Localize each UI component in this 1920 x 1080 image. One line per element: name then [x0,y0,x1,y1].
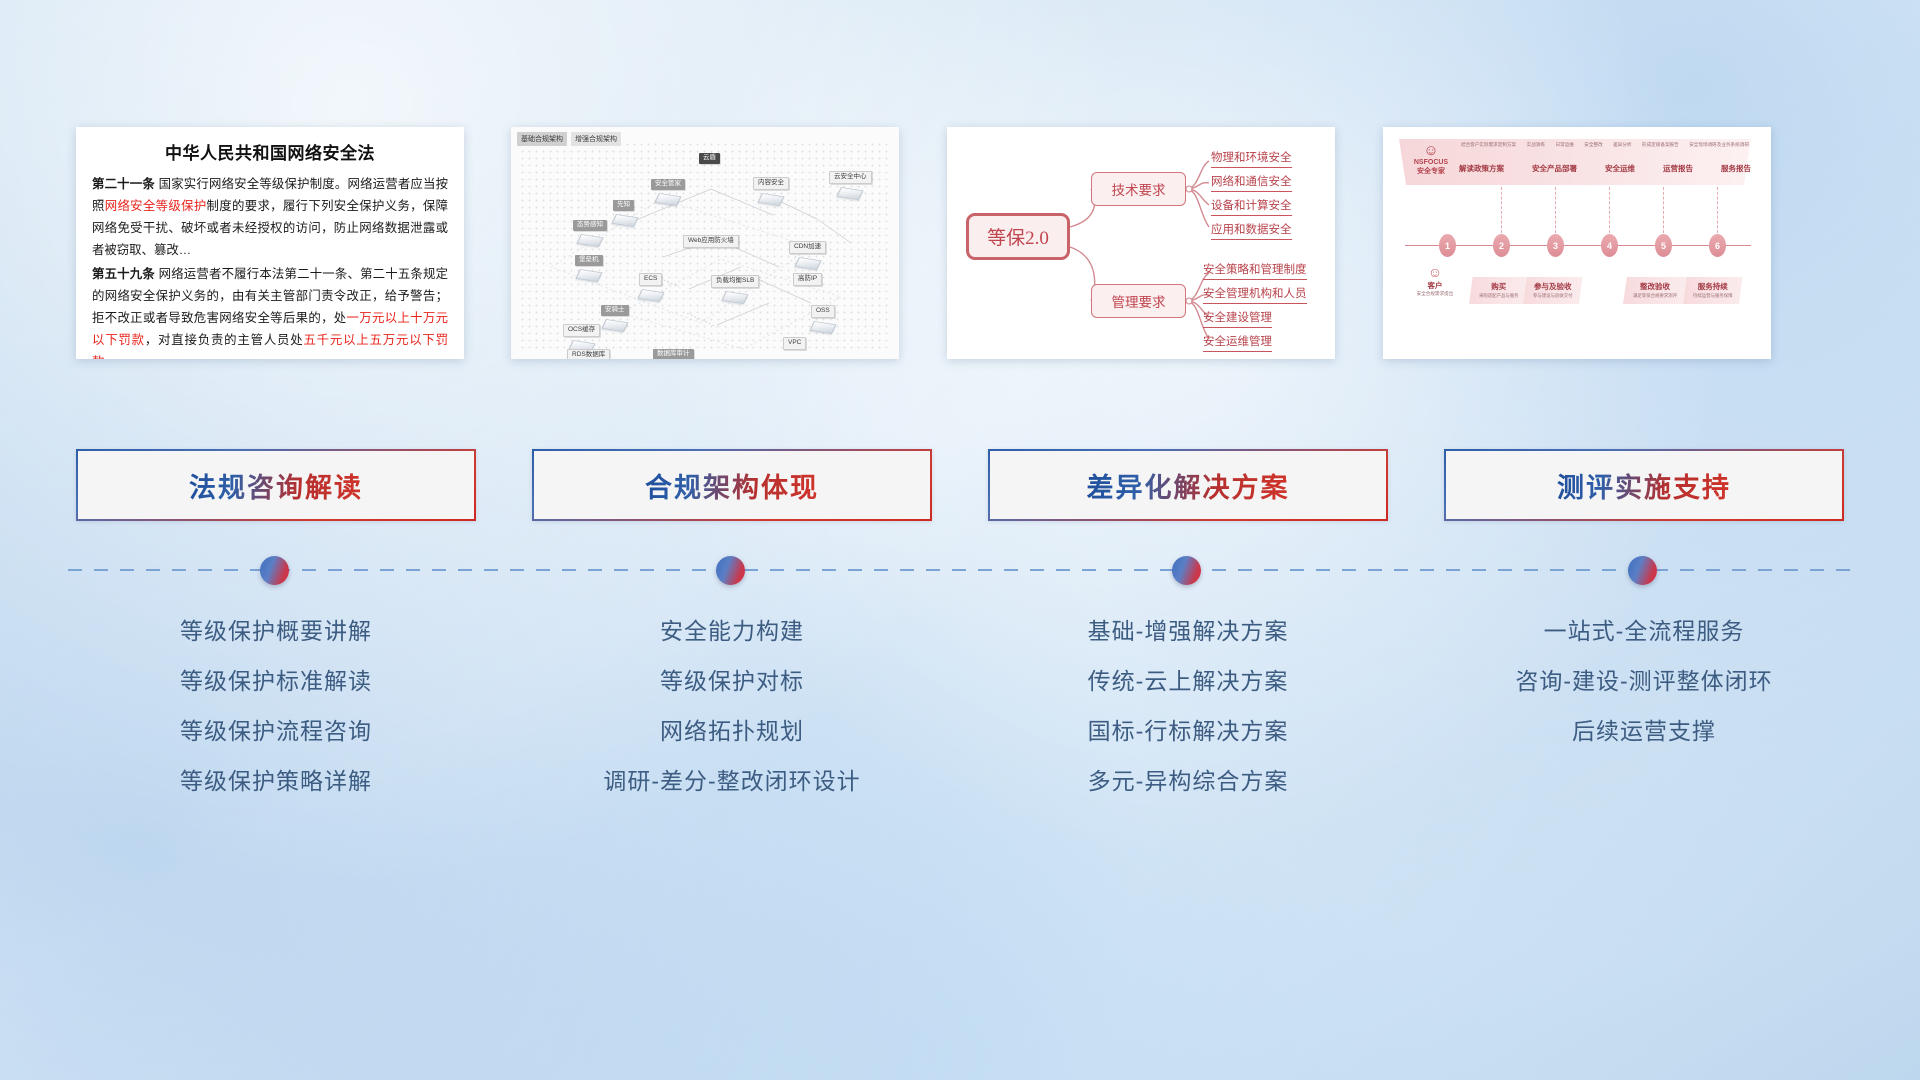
main-label-2: 安全运维 [1605,163,1635,174]
list-item: 基础-增强解决方案 [988,606,1388,656]
list-item: 后续运营支撑 [1444,706,1844,756]
mindmap-leaf-construction-mgmt: 安全建设管理 [1203,309,1272,328]
card-cybersecurity-law[interactable]: 中华人民共和国网络安全法 第二十一条 国家实行网络安全等级保护制度。网络运营者应… [76,127,464,359]
mindmap-root-node: 等保2.0 [966,213,1070,260]
law-article-21: 第二十一条 国家实行网络安全等级保护制度。网络运营者应当按照网络安全等级保护制度… [92,173,448,261]
cube-icon [758,193,785,206]
top-label-4: 差异分析 [1613,142,1631,148]
process-tick-5 [1663,187,1664,233]
headline-label-3: 差异化解决方案 [1087,466,1290,505]
client-person-icon: ☺ [1405,265,1465,280]
headline-label-2: 合规架构体现 [645,466,819,505]
bottom-tag-participation: 参与及验收 参与建设与验收交付 [1523,277,1583,304]
bottom-tag-service: 服务持续 持续运营与服务保障 [1683,277,1743,304]
list-item: 咨询-建设-测评整体闭环 [1444,656,1844,706]
top-label-0: 结合客户实际需求定制方案 [1461,142,1516,148]
headline-box-differentiated-solution[interactable]: 差异化解决方案 [988,449,1388,521]
main-label-1: 安全产品部署 [1532,163,1577,174]
process-tick-2 [1501,187,1502,233]
detail-list-4: 一站式-全流程服务 咨询-建设-测评整体闭环 后续运营支撑 [1444,606,1844,756]
cube-icon [638,289,665,302]
process-tick-3 [1555,187,1556,233]
top-label-3: 安全整改 [1584,142,1602,148]
mindmap-leaf-device-compute: 设备和计算安全 [1211,197,1292,216]
list-item: 一站式-全流程服务 [1444,606,1844,656]
bottom-tag-purchase-sub: 采购适配产品与服务 [1479,293,1519,299]
detail-list-1: 等级保护概要讲解 等级保护标准解读 等级保护流程咨询 等级保护策略详解 [76,606,476,806]
law-article-59: 第五十九条 网络运营者不履行本法第二十一条、第二十五条规定的网络安全保护义务的，… [92,263,448,359]
process-step-6: 6 [1709,234,1726,257]
timeline-dashed-line [68,569,1852,571]
list-item: 调研-差分-整改闭环设计 [532,756,932,806]
architecture-diagram: 基础合规架构 增强合规架构 [511,127,899,359]
headline-box-compliance-architecture[interactable]: 合规架构体现 [532,449,932,521]
bottom-tag-rectification-title: 整改验收 [1633,281,1677,292]
screenshot-cards-row: 中华人民共和国网络安全法 第二十一条 国家实行网络安全等级保护制度。网络运营者应… [0,127,1920,367]
bottom-tag-participation-title: 参与及验收 [1533,281,1573,292]
detail-list-3: 基础-增强解决方案 传统-云上解决方案 国标-行标解决方案 多元-异构综合方案 [988,606,1388,806]
mindmap-leaf-app-data: 应用和数据安全 [1211,221,1292,240]
headline-label-1: 法规咨询解读 [189,466,363,505]
mindmap-leaf-org-personnel: 安全管理机构和人员 [1203,285,1307,304]
law-title: 中华人民共和国网络安全法 [92,139,448,164]
bottom-tag-purchase-title: 购买 [1479,281,1519,292]
process-diagram: ☺ NSFOCUS 安全专家 结合客户实际需求定制方案 实战演练 日常运维 安全… [1383,127,1771,359]
cube-icon [612,214,639,227]
architecture-tabs[interactable]: 基础合规架构 增强合规架构 [517,132,621,146]
mindmap: 等保2.0 技术要求 管理要求 物理和环境安全 网络和通信安全 设备和计算安全 … [947,127,1335,359]
headline-row: 法规咨询解读 合规架构体现 差异化解决方案 测评实施支持 [0,449,1920,521]
cube-icon [794,257,821,270]
mindmap-branch-technical: 技术要求 [1091,172,1186,206]
bottom-tag-purchase: 购买 采购适配产品与服务 [1469,277,1529,304]
node-situation-awareness: 态势感知 [573,220,607,248]
process-axis-line [1405,245,1751,246]
list-item: 安全能力构建 [532,606,932,656]
detail-list-2: 安全能力构建 等级保护对标 网络拓扑规划 调研-差分-整改闭环设计 [532,606,932,806]
list-item: 等级保护概要讲解 [76,606,476,656]
process-step-3: 3 [1547,234,1564,257]
top-label-1: 实战演练 [1527,142,1545,148]
list-item: 网络拓扑规划 [532,706,932,756]
process-step-1: 1 [1439,234,1456,257]
process-step-2: 2 [1493,234,1510,257]
mindmap-leaf-physical-env: 物理和环境安全 [1211,149,1292,168]
timeline-dot-2[interactable] [716,556,745,585]
bottom-tag-rectification: 整改验收 满足等保合规要求测评 [1623,277,1687,304]
process-main-labels: 解读政策方案 安全产品部署 安全运维 运营报告 服务报告 [1459,163,1751,174]
timeline-dot-4[interactable] [1628,556,1657,585]
cube-icon [810,321,837,334]
article-21-highlight: 网络安全等级保护 [105,199,207,213]
main-label-0: 解读政策方案 [1459,163,1504,174]
card-mindmap-dengbao[interactable]: 等保2.0 技术要求 管理要求 物理和环境安全 网络和通信安全 设备和计算安全 … [947,127,1335,359]
bottom-tag-rectification-sub: 满足等保合规要求测评 [1633,293,1677,299]
node-cloud-shield: 云盾 [699,153,720,164]
headline-box-evaluation-support[interactable]: 测评实施支持 [1444,449,1844,521]
list-item: 传统-云上解决方案 [988,656,1388,706]
nsfocus-expert-block: ☺ NSFOCUS 安全专家 [1407,143,1455,176]
process-tick-4 [1609,187,1610,233]
process-tick-6 [1717,187,1718,233]
tab-enhanced-architecture[interactable]: 增强合规架构 [571,132,621,146]
article-59-text-b: ，对直接负责的主管人员处 [145,333,304,347]
card-compliance-architecture[interactable]: 基础合规架构 增强合规架构 [511,127,899,359]
node-ecs: ECS [639,273,663,303]
bottom-tag-service-sub: 持续运营与服务保障 [1693,293,1733,299]
law-document: 中华人民共和国网络安全法 第二十一条 国家实行网络安全等级保护制度。网络运营者应… [76,127,464,359]
cube-icon [722,291,749,304]
mindmap-branch-management: 管理要求 [1091,284,1186,318]
node-content-security: 内容安全 [753,177,789,207]
client-subtitle: 安全合规需求提出 [1405,291,1465,297]
node-oss: OSS [811,305,835,335]
bottom-tag-service-title: 服务持续 [1693,281,1733,292]
mindmap-leaf-ops-mgmt: 安全运维管理 [1203,333,1272,352]
node-web-application-firewall: Web应用防火墙 [683,235,739,248]
node-security-steward: 安全管家 [651,179,685,207]
timeline-dot-1[interactable] [260,556,289,585]
top-label-2: 日常运维 [1555,142,1573,148]
list-item: 国标-行标解决方案 [988,706,1388,756]
headline-box-regulation-consulting[interactable]: 法规咨询解读 [76,449,476,521]
cube-icon [575,269,602,282]
expert-person-icon: ☺ [1407,143,1455,158]
mindmap-leaf-policy-system: 安全策略和管理制度 [1203,261,1307,280]
node-bastion-host: 堡垒机 [575,255,603,283]
card-nsfocus-process[interactable]: ☺ NSFOCUS 安全专家 结合客户实际需求定制方案 实战演练 日常运维 安全… [1383,127,1771,359]
cube-icon [577,234,604,247]
client-block: ☺ 客户 安全合规需求提出 [1405,265,1465,297]
expert-name: NSFOCUS [1407,158,1455,167]
list-item: 等级保护策略详解 [76,756,476,806]
list-item: 等级保护流程咨询 [76,706,476,756]
top-label-5: 形成定级备案报告 [1642,142,1679,148]
main-label-4: 服务报告 [1721,163,1751,174]
node-cloud-security-center: 云安全中心 [829,171,872,201]
top-label-6: 安全现场调研及业务系统调研 [1689,142,1749,148]
bottom-tag-participation-sub: 参与建设与验收交付 [1533,293,1573,299]
node-database-audit: 数据库审计 [653,349,694,359]
expert-role: 安全专家 [1407,167,1455,176]
headline-label-4: 测评实施支持 [1557,466,1731,505]
node-rds-database: RDS数据库 [567,349,610,359]
process-step-5: 5 [1655,234,1672,257]
process-step-4: 4 [1601,234,1618,257]
list-item: 等级保护标准解读 [76,656,476,706]
client-title: 客户 [1405,280,1465,291]
node-load-balancer-slb: 负载均衡SLB [711,275,759,305]
node-cdn-acceleration: CDN加速 [789,241,826,271]
tab-basic-architecture[interactable]: 基础合规架构 [517,132,567,146]
cube-icon [837,187,864,200]
cube-icon [655,193,682,206]
process-top-labels: 结合客户实际需求定制方案 实战演练 日常运维 安全整改 差异分析 形成定级备案报… [1461,142,1749,148]
list-item: 多元-异构综合方案 [988,756,1388,806]
node-anti-ddos-ip: 高防IP [793,273,822,286]
article-21-label: 第二十一条 [92,177,155,191]
node-xianzhi: 先知 [613,200,637,228]
node-anqishi: 安骑士 [601,305,629,333]
main-label-3: 运营报告 [1663,163,1693,174]
mindmap-leaf-network-comm: 网络和通信安全 [1211,173,1292,192]
cube-icon [601,319,628,332]
article-59-label: 第五十九条 [92,267,155,281]
node-vpc: VPC [783,337,806,350]
timeline-dot-3[interactable] [1172,556,1201,585]
list-item: 等级保护对标 [532,656,932,706]
